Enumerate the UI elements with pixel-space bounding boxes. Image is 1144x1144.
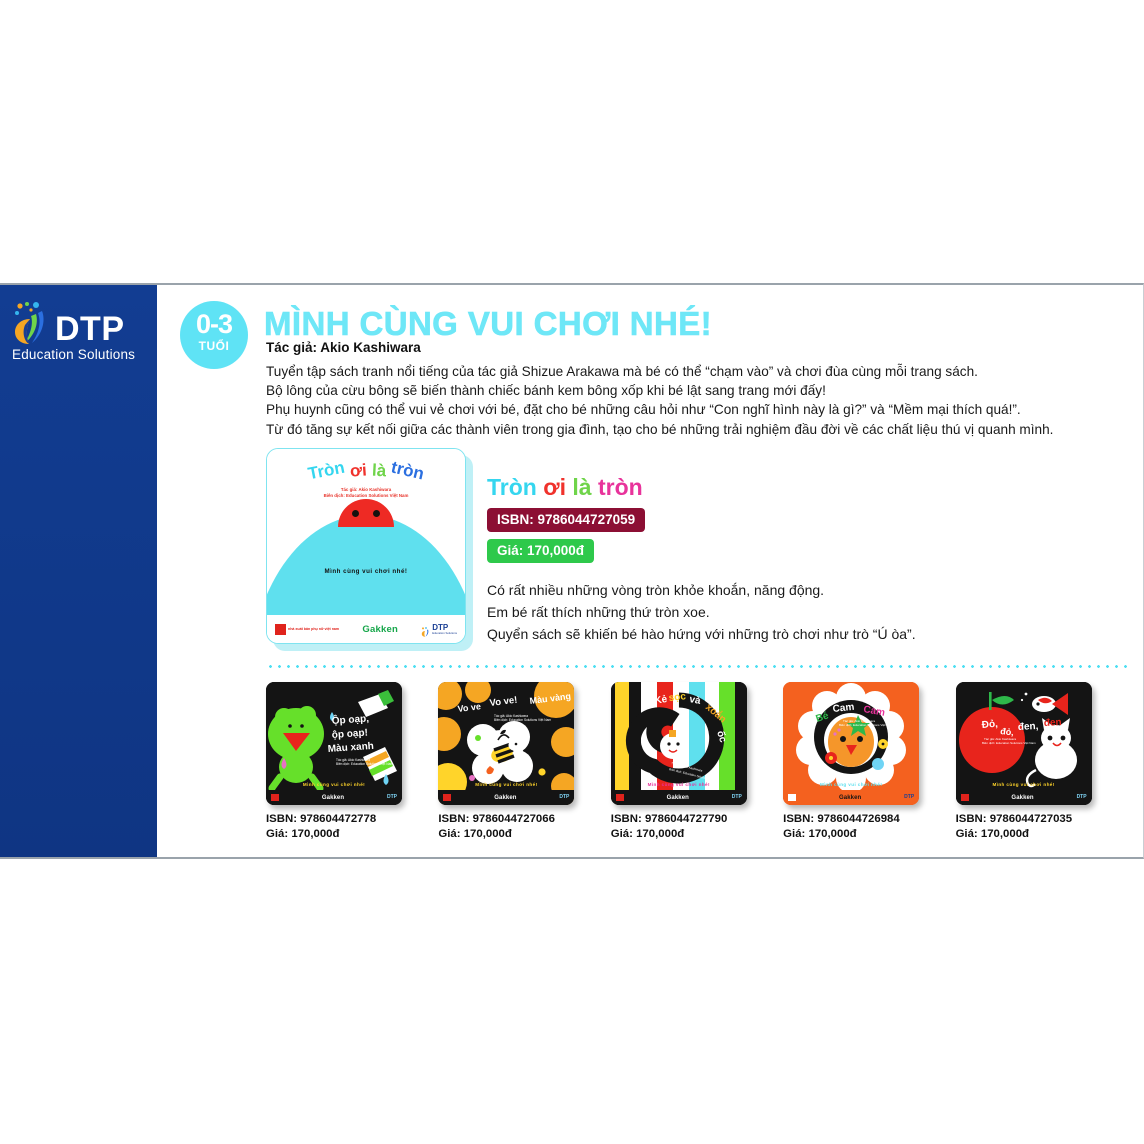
thumb-cover-redblack[interactable]: Đỏ, đỏ, đen, đen Tác giả: Akio Kashiwara… <box>956 682 1092 805</box>
gakken-logo: Gakken <box>362 624 398 635</box>
thumb-meta: ISBN: 9786044727790 Giá: 170,000đ <box>611 812 783 842</box>
featured-isbn-badge: ISBN: 9786044727059 <box>487 508 645 532</box>
featured-title-part: Tròn <box>487 474 537 501</box>
thumb-publisher-bar: Gakken DTP <box>266 790 402 805</box>
thumb-bottom-tag: Mình cùng vui chơi nhé! <box>956 782 1092 787</box>
thumb-isbn: ISBN: 9786044727035 <box>956 812 1128 827</box>
cover-publisher-bar: nhà xuất bản phụ nữ việt nam Gakken <box>267 615 465 643</box>
desc-line: Tuyển tập sách tranh nổi tiếng của tác g… <box>266 362 1128 381</box>
thumb-isbn: ISBN: 9786044727790 <box>611 812 783 827</box>
list-item[interactable]: Đỏ, đỏ, đen, đen Tác giả: Akio Kashiwara… <box>956 682 1128 842</box>
age-badge: 0-3 TUỔI <box>180 301 248 369</box>
featured-title-part: là <box>572 474 591 501</box>
dtp-logo-icon <box>12 301 52 345</box>
cover-character-head <box>338 499 394 527</box>
thumb-dtp: DTP <box>732 795 742 800</box>
cover-title-part: là <box>371 461 386 482</box>
thumb-price: Giá: 170,000đ <box>438 827 610 842</box>
thumb-publisher-bar: Gakken DTP <box>783 790 919 805</box>
cover-credit-translator: Biên dịch: Education Solutions Việt Nam <box>267 493 465 499</box>
dtp-logo: DTP Education Solutions <box>12 301 147 362</box>
featured-description: Có rất nhiều những vòng tròn khỏe khoắn,… <box>487 579 1127 645</box>
thumb-bottom-tag: Mình cùng vui chơi nhé! <box>783 782 919 787</box>
svg-text:đen: đen <box>1043 717 1061 729</box>
dtp-logo-tagline: Education Solutions <box>12 347 147 362</box>
cover-title-part: ơi <box>349 460 367 481</box>
cover-title-part: Tròn <box>307 458 347 485</box>
featured-title-part: ơi <box>543 474 566 501</box>
publisher-vn-label: nhà xuất bản phụ nữ việt nam <box>288 627 339 631</box>
dtp-logo-text: DTP <box>55 313 125 345</box>
featured-desc-line: Em bé rất thích những thứ tròn xoe. <box>487 601 1127 623</box>
thumb-publisher-bar: Gakken DTP <box>956 790 1092 805</box>
svg-text:đỏ,: đỏ, <box>999 726 1013 737</box>
list-item[interactable]: Ộp oạp, ộp oạp! Màu xanh Tác giả: Akio K… <box>266 682 438 842</box>
series-description: Tuyển tập sách tranh nổi tiếng của tác g… <box>266 362 1128 439</box>
cover-title-part: tròn <box>389 458 426 485</box>
dtp-mini-icon <box>421 624 430 634</box>
dtp-mini-logo: DTP Education Solutions <box>421 624 457 635</box>
svg-text:đen,: đen, <box>1017 721 1038 733</box>
featured-book-info: Tròn ơi là tròn ISBN: 9786044727059 Giá:… <box>487 474 1127 645</box>
svg-text:Biên dịch: Education Solutions: Biên dịch: Education Solutions Việt Nam <box>494 718 551 722</box>
age-badge-range: 0-3 <box>180 309 248 340</box>
thumb-price: Giá: 170,000đ <box>956 827 1128 842</box>
svg-text:Biên dịch: Education Solutions: Biên dịch: Education Solutions Việt Nam <box>336 762 393 766</box>
featured-desc-line: Quyển sách sẽ khiến bé hào hứng với nhữn… <box>487 623 1127 645</box>
list-item[interactable]: Vo ve Vo ve! Màu vàng Tác giả: Akio Kash… <box>438 682 610 842</box>
thumb-meta: ISBN: 9786044727035 Giá: 170,000đ <box>956 812 1128 842</box>
thumb-dtp: DTP <box>904 795 914 800</box>
age-badge-unit: TUỔI <box>180 339 248 353</box>
promo-card: DTP Education Solutions 0-3 TUỔI MÌNH CÙ… <box>0 283 1144 859</box>
desc-line: Phụ huynh cũng có thể vui vẻ chơi với bé… <box>266 400 1128 419</box>
featured-title: Tròn ơi là tròn <box>487 474 1127 501</box>
cover-artwork: Tròn ơi là tròn Tác giả: Akio Kashiwara … <box>267 449 465 615</box>
thumb-cover-frog[interactable]: Ộp oạp, ộp oạp! Màu xanh Tác giả: Akio K… <box>266 682 402 805</box>
svg-text:Biên dịch: Education Solutions: Biên dịch: Education Solutions Việt Nam <box>982 741 1036 745</box>
svg-text:Biên dịch: Education Solutions: Biên dịch: Education Solutions Việt Nam <box>839 723 893 727</box>
svg-text:Đỏ,: Đỏ, <box>981 719 998 731</box>
thumb-publisher-bar: Gakken DTP <box>611 790 747 805</box>
thumb-dtp: DTP <box>387 795 397 800</box>
desc-line: Từ đó tăng sự kết nối giữa các thành viê… <box>266 420 1128 439</box>
thumb-gakken: Gakken <box>667 795 689 801</box>
thumb-price: Giá: 170,000đ <box>266 827 438 842</box>
desc-line: Bộ lông của cừu bông sẽ biến thành chiếc… <box>266 381 1128 400</box>
thumb-isbn: ISBN: 9786044727066 <box>438 812 610 827</box>
thumb-bottom-tag: Mình cùng vui chơi nhé! <box>611 782 747 787</box>
cover-title: Tròn ơi là tròn <box>267 461 465 481</box>
thumb-gakken: Gakken <box>1011 795 1033 801</box>
list-item[interactable]: Kẻ sọc và xoắn ốc Tác giả: Akio Kashiwar… <box>611 682 783 842</box>
thumb-cover-spiral[interactable]: Kẻ sọc và xoắn ốc Tác giả: Akio Kashiwar… <box>611 682 747 805</box>
thumb-meta: ISBN: 978604472778 Giá: 170,000đ <box>266 812 438 842</box>
svg-text:Kẻ: Kẻ <box>653 694 668 707</box>
thumb-bottom-tag: Mình cùng vui chơi nhé! <box>438 782 574 787</box>
thumb-cover-orange[interactable]: Bé Cam Cam Tác giả: Akio Kashiwara Biên … <box>783 682 919 805</box>
dtp-mini-tagline: Education Solutions <box>432 632 457 635</box>
featured-title-part: tròn <box>598 474 643 501</box>
thumb-meta: ISBN: 9786044727066 Giá: 170,000đ <box>438 812 610 842</box>
section-divider <box>266 665 1128 668</box>
brand-sidebar: DTP Education Solutions <box>0 285 157 857</box>
page-title: MÌNH CÙNG VUI CHƠI NHÉ! <box>264 305 712 343</box>
thumb-gakken: Gakken <box>839 795 861 801</box>
page-root: DTP Education Solutions 0-3 TUỔI MÌNH CÙ… <box>0 0 1144 1144</box>
cover-credits: Tác giả: Akio Kashiwara Biên dịch: Educa… <box>267 487 465 499</box>
thumb-bottom-tag: Mình cùng vui chơi nhé! <box>266 782 402 787</box>
cover-dome-shape <box>267 515 465 615</box>
featured-book-cover[interactable]: Tròn ơi là tròn Tác giả: Akio Kashiwara … <box>266 448 466 644</box>
thumb-meta: ISBN: 9786044726984 Giá: 170,000đ <box>783 812 955 842</box>
svg-text:sọc: sọc <box>668 691 687 704</box>
svg-text:Cam: Cam <box>832 702 855 715</box>
author-label: Tác giả: Akio Kashiwara <box>266 340 421 355</box>
featured-desc-line: Có rất nhiều những vòng tròn khỏe khoắn,… <box>487 579 1127 601</box>
publisher-vn-logo: nhà xuất bản phụ nữ việt nam <box>275 624 339 635</box>
thumb-price: Giá: 170,000đ <box>783 827 955 842</box>
related-books-row: Ộp oạp, ộp oạp! Màu xanh Tác giả: Akio K… <box>266 682 1128 842</box>
thumb-gakken: Gakken <box>494 795 516 801</box>
thumb-isbn: ISBN: 978604472778 <box>266 812 438 827</box>
thumb-gakken: Gakken <box>322 795 344 801</box>
thumb-isbn: ISBN: 9786044726984 <box>783 812 955 827</box>
thumb-price: Giá: 170,000đ <box>611 827 783 842</box>
thumb-dtp: DTP <box>559 795 569 800</box>
list-item[interactable]: Bé Cam Cam Tác giả: Akio Kashiwara Biên … <box>783 682 955 842</box>
cover-bottom-tag: Mình cùng vui chơi nhé! <box>267 568 465 575</box>
thumb-cover-bee[interactable]: Vo ve Vo ve! Màu vàng Tác giả: Akio Kash… <box>438 682 574 805</box>
featured-price-badge: Giá: 170,000đ <box>487 539 594 563</box>
thumb-dtp: DTP <box>1077 795 1087 800</box>
thumb-publisher-bar: Gakken DTP <box>438 790 574 805</box>
